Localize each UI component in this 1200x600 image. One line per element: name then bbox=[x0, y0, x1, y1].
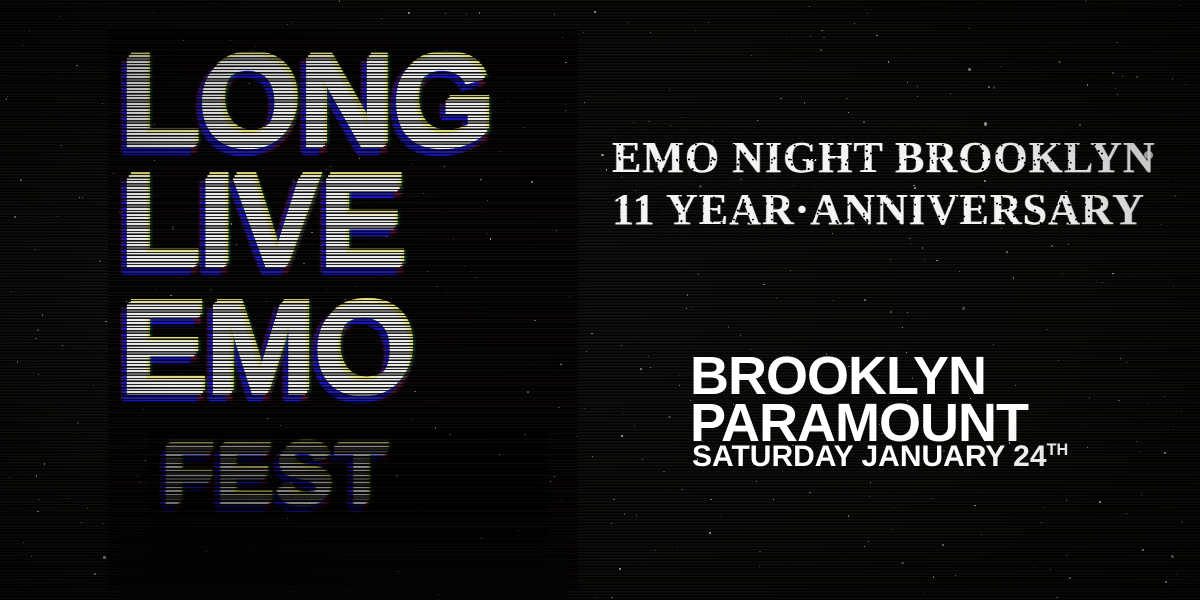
anniversary-line: 11 YEAR·ANNIVERSARY bbox=[612, 184, 1145, 235]
event-date-text: SATURDAY JANUARY 24 bbox=[692, 440, 1047, 473]
event-date: SATURDAY JANUARY 24TH bbox=[692, 440, 1068, 474]
event-date-ordinal-suffix: TH bbox=[1047, 441, 1069, 459]
glitch-logo-stack: LONG LONG LONG LONG LONG LONG LONG LIVE … bbox=[118, 40, 568, 580]
logo-line-emo-core: EMO bbox=[118, 295, 568, 406]
glitch-logo: LONG LONG LONG LONG LONG LONG LONG LIVE … bbox=[118, 40, 568, 580]
logo-line-long-core: LONG bbox=[118, 48, 568, 159]
presenter-line: EMO NIGHT BROOKLYN bbox=[612, 132, 1156, 183]
event-poster: LONG LONG LONG LONG LONG LONG LONG LIVE … bbox=[0, 0, 1200, 600]
logo-line-live-core: LIVE bbox=[118, 168, 568, 279]
logo-line-fest-core: FEST bbox=[160, 440, 610, 512]
event-info-column: EMO NIGHT BROOKLYN 11 YEAR·ANNIVERSARY B… bbox=[608, 0, 1128, 600]
